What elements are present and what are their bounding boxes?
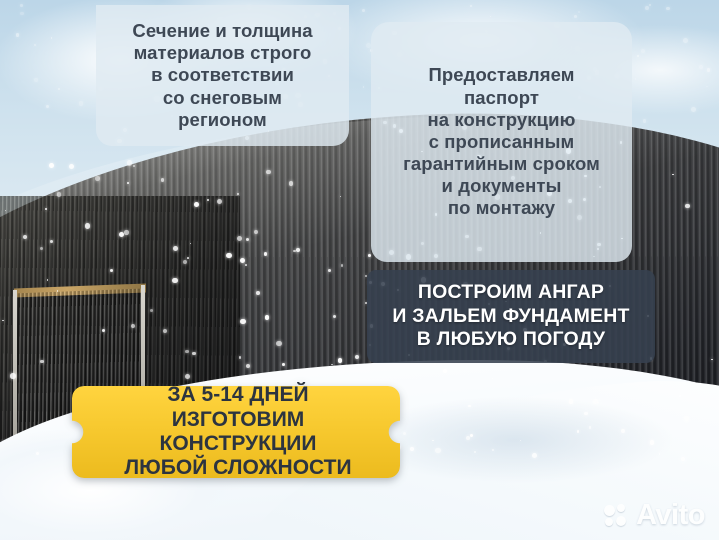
info-card-material-spec-text: Сечение и толщина материалов строго в со… <box>106 20 339 131</box>
badge-any-weather-text: ПОСТРОИМ АНГАР И ЗАЛЬЕМ ФУНДАМЕНТ В ЛЮБУ… <box>373 281 649 352</box>
poster-image: Сечение и толщина материалов строго в со… <box>0 0 719 540</box>
info-card-passport: Предоставляем паспорт на конструкцию с п… <box>371 22 632 262</box>
badge-delivery-terms: ЗА 5-14 ДНЕЙ ИЗГОТОВИМ КОНСТРУКЦИИ ЛЮБОЙ… <box>72 386 400 478</box>
avito-dots-icon <box>604 504 631 528</box>
badge-delivery-terms-text: ЗА 5-14 ДНЕЙ ИЗГОТОВИМ КОНСТРУКЦИИ ЛЮБОЙ… <box>98 383 378 480</box>
avito-watermark: Avito <box>604 501 705 530</box>
info-card-passport-text: Предоставляем паспорт на конструкцию с п… <box>381 64 622 219</box>
badge-any-weather: ПОСТРОИМ АНГАР И ЗАЛЬЕМ ФУНДАМЕНТ В ЛЮБУ… <box>367 270 655 363</box>
info-card-material-spec: Сечение и толщина материалов строго в со… <box>96 5 349 146</box>
avito-wordmark: Avito <box>636 501 705 530</box>
